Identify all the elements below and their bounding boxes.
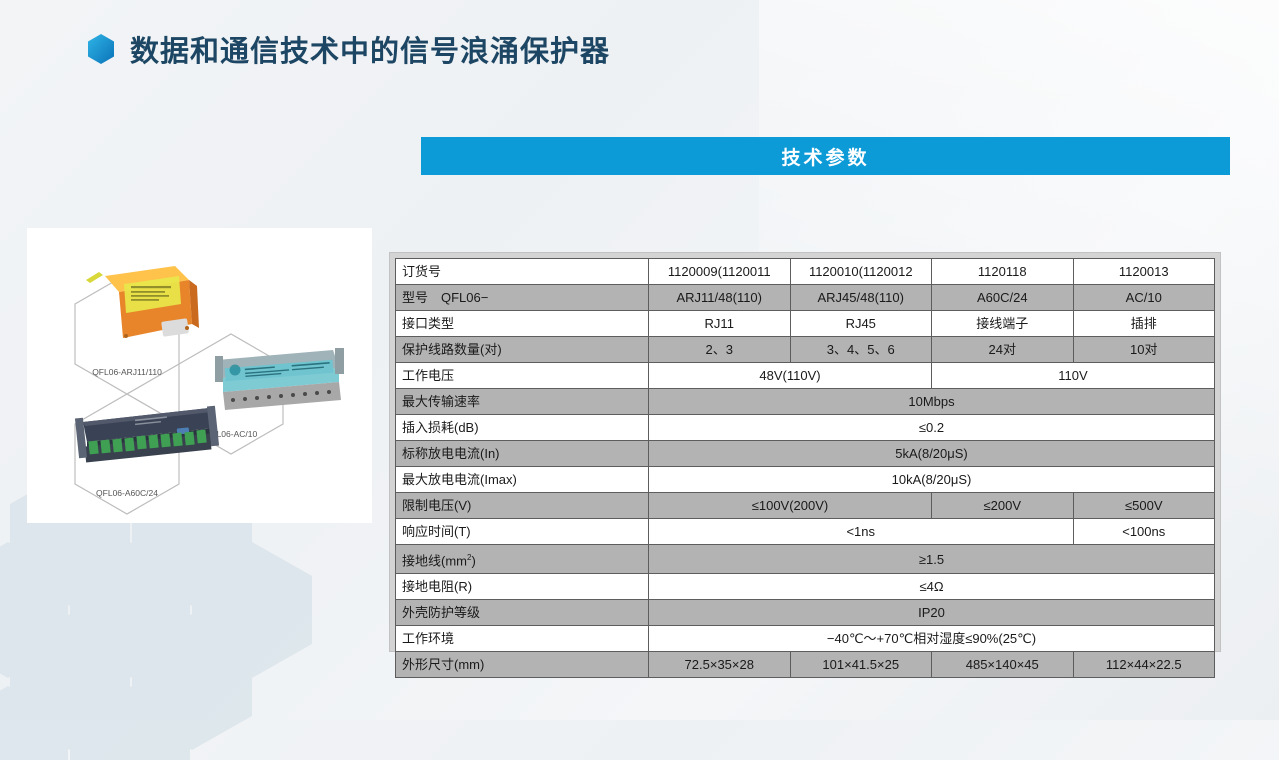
table-cell: 插排 — [1073, 311, 1215, 337]
row-label: 插入损耗(dB) — [396, 415, 649, 441]
table-cell: 10Mbps — [649, 389, 1215, 415]
table-row: 型号 QFL06−ARJ11/48(110)ARJ45/48(110)A60C/… — [396, 285, 1215, 311]
black-rack-unit-image — [75, 406, 219, 463]
row-label: 保护线路数量(对) — [396, 337, 649, 363]
table-cell: ARJ45/48(110) — [790, 285, 932, 311]
table-cell: 1120010(1120012 — [790, 259, 932, 285]
table-cell: ≤200V — [932, 493, 1074, 519]
row-label: 限制电压(V) — [396, 493, 649, 519]
table-row: 标称放电电流(In)5kA(8/20μS) — [396, 441, 1215, 467]
row-label: 最大放电电流(Imax) — [396, 467, 649, 493]
table-cell: 3、4、5、6 — [790, 337, 932, 363]
table-row: 接地线(mm2)≥1.5 — [396, 545, 1215, 574]
row-label: 型号 QFL06− — [396, 285, 649, 311]
table-cell: <100ns — [1073, 519, 1215, 545]
table-row: 插入损耗(dB)≤0.2 — [396, 415, 1215, 441]
table-cell: 10kA(8/20μS) — [649, 467, 1215, 493]
row-label: 工作环境 — [396, 626, 649, 652]
table-row: 最大放电电流(Imax)10kA(8/20μS) — [396, 467, 1215, 493]
spec-table: 订货号1120009(11200111120010(11200121120118… — [395, 258, 1215, 678]
table-cell: 48V(110V) — [649, 363, 932, 389]
table-cell: −40℃～+70℃相对湿度≤90%(25℃) — [649, 626, 1215, 652]
product-image-panel: QFL06-ARJ11/110 — [27, 228, 372, 523]
table-row: 接口类型RJ11RJ45接线端子插排 — [396, 311, 1215, 337]
orange-surge-protector-image — [86, 266, 199, 338]
table-cell: A60C/24 — [932, 285, 1074, 311]
table-cell: 1120118 — [932, 259, 1074, 285]
page-title: 数据和通信技术中的信号浪涌保护器 — [130, 28, 610, 70]
table-cell: 1120013 — [1073, 259, 1215, 285]
table-row: 工作环境−40℃～+70℃相对湿度≤90%(25℃) — [396, 626, 1215, 652]
table-cell: 接线端子 — [932, 311, 1074, 337]
table-cell: 10对 — [1073, 337, 1215, 363]
table-row: 工作电压48V(110V)110V — [396, 363, 1215, 389]
table-cell: 2、3 — [649, 337, 791, 363]
section-banner: 技术参数 — [421, 137, 1230, 175]
table-row: 外形尺寸(mm)72.5×35×28101×41.5×25485×140×451… — [396, 652, 1215, 678]
table-row: 响应时间(T)<1ns<100ns — [396, 519, 1215, 545]
table-cell: 72.5×35×28 — [649, 652, 791, 678]
table-row: 限制电压(V)≤100V(200V)≤200V≤500V — [396, 493, 1215, 519]
table-cell: 110V — [932, 363, 1215, 389]
table-row: 接地电阻(R)≤4Ω — [396, 574, 1215, 600]
table-cell: ≤500V — [1073, 493, 1215, 519]
row-label: 接口类型 — [396, 311, 649, 337]
teal-module-image — [215, 348, 344, 410]
table-cell: 112×44×22.5 — [1073, 652, 1215, 678]
spec-table-container: 订货号1120009(11200111120010(11200121120118… — [389, 252, 1221, 652]
table-cell: 1120009(1120011 — [649, 259, 791, 285]
table-cell: ≤0.2 — [649, 415, 1215, 441]
table-cell: ARJ11/48(110) — [649, 285, 791, 311]
row-label: 最大传输速率 — [396, 389, 649, 415]
table-cell: RJ11 — [649, 311, 791, 337]
table-cell: <1ns — [649, 519, 1074, 545]
table-row: 订货号1120009(11200111120010(11200121120118… — [396, 259, 1215, 285]
table-cell: ≥1.5 — [649, 545, 1215, 574]
page-header: 数据和通信技术中的信号浪涌保护器 — [88, 28, 610, 70]
product-label-1: QFL06-ARJ11/110 — [92, 367, 162, 377]
table-cell: RJ45 — [790, 311, 932, 337]
hexagon-icon — [88, 34, 114, 64]
table-cell: 5kA(8/20μS) — [649, 441, 1215, 467]
table-cell: 485×140×45 — [932, 652, 1074, 678]
row-label: 外壳防护等级 — [396, 600, 649, 626]
table-cell: AC/10 — [1073, 285, 1215, 311]
row-label: 外形尺寸(mm) — [396, 652, 649, 678]
table-cell: IP20 — [649, 600, 1215, 626]
row-label: 订货号 — [396, 259, 649, 285]
row-label: 接地线(mm2) — [396, 545, 649, 574]
row-label: 工作电压 — [396, 363, 649, 389]
table-row: 外壳防护等级IP20 — [396, 600, 1215, 626]
table-cell: 101×41.5×25 — [790, 652, 932, 678]
row-label: 标称放电电流(In) — [396, 441, 649, 467]
row-label: 响应时间(T) — [396, 519, 649, 545]
section-banner-label: 技术参数 — [781, 143, 869, 170]
product-label-3: QFL06-A60C/24 — [96, 488, 158, 498]
table-cell: ≤100V(200V) — [649, 493, 932, 519]
row-label: 接地电阻(R) — [396, 574, 649, 600]
table-row: 最大传输速率10Mbps — [396, 389, 1215, 415]
table-cell: 24对 — [932, 337, 1074, 363]
table-row: 保护线路数量(对)2、33、4、5、624对10对 — [396, 337, 1215, 363]
table-cell: ≤4Ω — [649, 574, 1215, 600]
